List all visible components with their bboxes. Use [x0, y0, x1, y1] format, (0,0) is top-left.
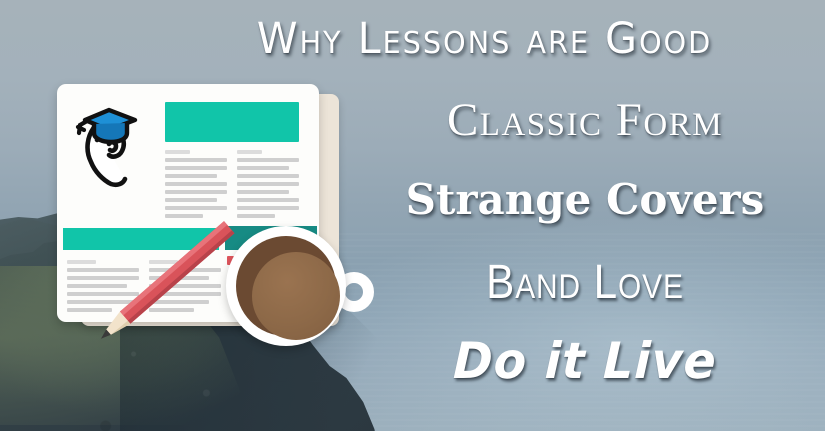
text-line	[149, 300, 209, 304]
ear-with-graduation-cap-icon	[73, 100, 145, 188]
text-line	[237, 150, 262, 154]
coffee-cup	[226, 226, 374, 358]
text-line	[165, 150, 190, 154]
text-line	[237, 166, 289, 170]
bottom-column-left	[67, 260, 139, 316]
text-line	[149, 284, 221, 288]
headline-line-1: Why Lessons are Good	[17, 14, 809, 64]
text-line	[67, 284, 127, 288]
text-line	[165, 182, 227, 186]
text-line	[165, 166, 227, 170]
text-line	[237, 206, 299, 210]
coffee-liquid	[252, 252, 340, 340]
headline-line-5: Do it Live	[366, 332, 805, 390]
bottom-column-mid	[149, 260, 221, 316]
text-line	[165, 158, 227, 162]
text-line	[67, 308, 112, 312]
text-line	[67, 300, 139, 304]
text-line	[237, 214, 275, 218]
text-line	[237, 174, 299, 178]
article-column-left	[165, 150, 227, 222]
text-line	[67, 276, 139, 280]
text-line	[149, 292, 221, 296]
text-line	[165, 206, 227, 210]
headline-line-2: Classic Form	[355, 93, 815, 147]
text-line	[149, 308, 194, 312]
text-line	[67, 260, 96, 264]
text-line	[149, 276, 209, 280]
text-line	[165, 190, 227, 194]
text-line	[237, 158, 299, 162]
text-line	[165, 174, 217, 178]
text-line	[237, 190, 289, 194]
headline-block-teal	[165, 102, 299, 142]
text-line	[237, 198, 299, 202]
text-line	[237, 182, 299, 186]
headline-line-4: Band Love	[383, 255, 788, 310]
header-graphic-canvas: Why Lessons are Good Classic Form Strang…	[0, 0, 825, 431]
cup-body	[226, 226, 346, 346]
text-line	[67, 268, 139, 272]
text-line	[149, 260, 178, 264]
cup-inner-rim	[236, 236, 336, 336]
text-line	[165, 198, 217, 202]
graduation-cap-shape	[78, 110, 135, 142]
text-line	[149, 268, 221, 272]
headline-line-3: Strange Covers	[355, 175, 815, 224]
text-line	[67, 292, 139, 296]
text-line	[165, 214, 203, 218]
article-column-right	[237, 150, 299, 222]
subheadline-block-teal	[63, 228, 219, 250]
